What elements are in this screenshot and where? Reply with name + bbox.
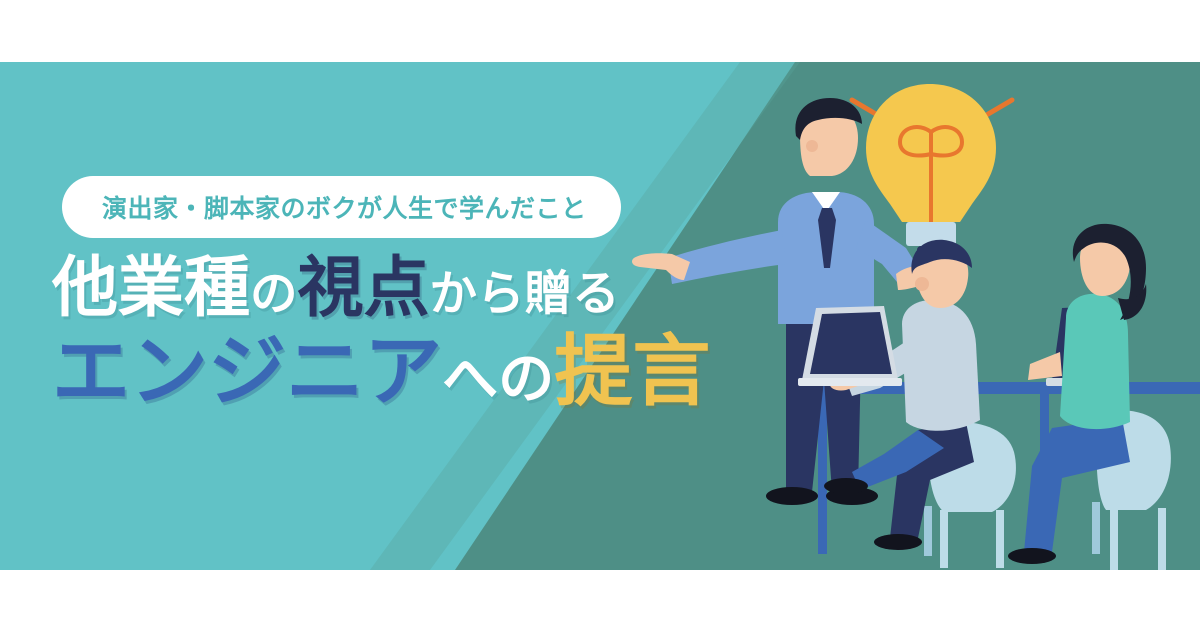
subtitle-pill-text: 演出家・脚本家のボクが人生で学んだこと xyxy=(102,189,587,225)
headline-l1-seg-3: から贈る xyxy=(430,268,620,321)
headline-block: 他業種の視点から贈る エンジニアへの提言 xyxy=(52,254,710,410)
headline-l2-seg-0: エンジニア xyxy=(52,327,442,415)
hero-banner: 演出家・脚本家のボクが人生で学んだこと 他業種の視点から贈る エンジニアへの提言 xyxy=(0,0,1200,630)
headline-l2-seg-1: への xyxy=(442,347,554,410)
bottom-white-band xyxy=(0,570,1200,630)
headline-line-1: 他業種の視点から贈る xyxy=(52,254,710,320)
seated-woman-figure xyxy=(1008,224,1171,570)
headline-l1-seg-1: の xyxy=(250,268,298,321)
subtitle-pill: 演出家・脚本家のボクが人生で学んだこと xyxy=(62,176,621,238)
headline-line-2: エンジニアへの提言 xyxy=(52,332,710,410)
headline-l2-seg-2: 提言 xyxy=(554,327,710,415)
headline-l1-seg-0: 他業種 xyxy=(52,250,250,324)
illustration-stage: 演出家・脚本家のボクが人生で学んだこと 他業種の視点から贈る エンジニアへの提言 xyxy=(0,62,1200,570)
top-white-band xyxy=(0,0,1200,62)
headline-l1-seg-2: 視点 xyxy=(298,250,430,324)
